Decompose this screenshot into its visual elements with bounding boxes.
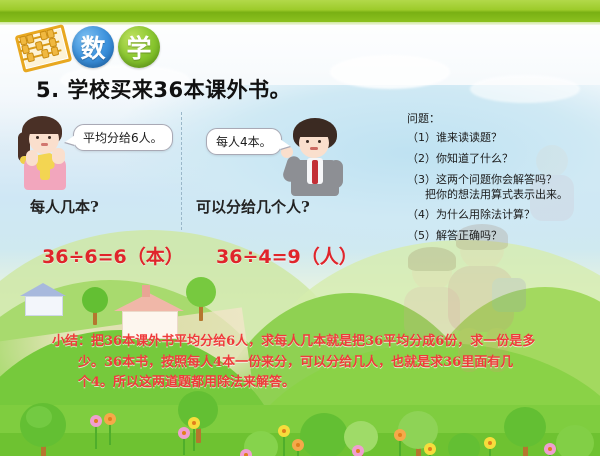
girl-bubble-text: 平均分给6人。 xyxy=(83,131,163,145)
left-equation: 36÷6=6（本） xyxy=(42,242,184,269)
bubble-tail xyxy=(65,135,75,145)
boy-speech-bubble: 每人4本。 xyxy=(206,128,282,155)
girl-speech-bubble: 平均分给6人。 xyxy=(73,124,173,151)
tree-icon xyxy=(448,433,480,456)
flower-icon xyxy=(178,427,190,455)
flower-icon xyxy=(352,445,364,456)
badge-math-icon: 数 xyxy=(72,26,114,68)
question-label: （5）解答正确吗？ xyxy=(407,229,502,242)
vertical-divider xyxy=(181,112,182,230)
question-label: （4）为什么用除法计算？ xyxy=(407,208,535,221)
tree-icon xyxy=(20,403,66,456)
question-item-3: （3）这两个问题你会解答吗？ 把你的想法用算式表示出来。 xyxy=(407,173,597,203)
cloud-icon xyxy=(470,75,580,103)
question-item-4: （4）为什么用除法计算？ xyxy=(407,208,597,223)
house-icon xyxy=(20,283,66,315)
right-question-text: 可以分给几个人? xyxy=(196,196,310,217)
question-sub-label: 把你的想法用算式表示出来。 xyxy=(425,188,597,203)
question-item-1: （1）谁来读读题？ xyxy=(407,131,597,146)
flower-icon xyxy=(104,413,116,445)
badge-study-icon: 学 xyxy=(118,26,160,68)
girl-student-figure xyxy=(18,112,74,190)
left-question-text: 每人几本? xyxy=(30,196,99,217)
question-item-2: （2）你知道了什么？ xyxy=(407,152,597,167)
summary-line-1: 小结：把36本课外书平均分给6人，求每人几本就是把36平均分成6份，求一份是多 xyxy=(52,334,535,349)
tree-icon xyxy=(186,277,216,321)
abacus-icon xyxy=(12,21,71,74)
summary-line-3: 个4。所以这两道题都用除法来解答。 xyxy=(78,373,558,394)
tree-icon xyxy=(556,425,594,456)
top-green-bar xyxy=(0,0,600,22)
tree-icon xyxy=(300,413,348,456)
right-equation: 36÷4=9（人） xyxy=(216,242,358,269)
question-item-5: （5）解答正确吗？ xyxy=(407,229,597,244)
flower-icon xyxy=(484,437,496,456)
questions-panel: 问题： （1）谁来读读题？ （2）你知道了什么？ （3）这两个问题你会解答吗？ … xyxy=(407,110,597,250)
cloud-icon xyxy=(330,55,450,89)
question-label: （3）这两个问题你会解答吗？ xyxy=(407,173,557,186)
flower-icon xyxy=(292,439,304,456)
flower-icon xyxy=(394,429,406,456)
slide-root: 数 学 5. 学校买来36本课外书。 平均分给6人。 每人几本? xyxy=(0,0,600,456)
summary-line-2: 少。36本书，按照每人4本一份来分，可以分给几人，也就是求36里面有几 xyxy=(78,353,558,374)
page-title: 5. 学校买来36本课外书。 xyxy=(36,74,291,104)
tree-icon xyxy=(504,407,546,456)
questions-heading: 问题： xyxy=(407,110,597,126)
flower-icon xyxy=(90,415,102,449)
question-label: （1）谁来读读题？ xyxy=(407,131,502,144)
flower-icon xyxy=(278,425,290,456)
flower-icon xyxy=(424,443,436,456)
flower-icon xyxy=(544,443,556,456)
bubble-tail xyxy=(280,139,290,149)
boy-bubble-text: 每人4本。 xyxy=(216,135,272,149)
tree-icon xyxy=(82,287,108,325)
summary-block: 小结：把36本课外书平均分给6人，求每人几本就是把36平均分成6份，求一份是多 … xyxy=(52,332,558,394)
logo-group: 数 学 xyxy=(16,24,166,70)
boy-student-figure xyxy=(285,116,345,196)
flower-icon xyxy=(240,449,252,456)
question-label: （2）你知道了什么？ xyxy=(407,152,513,165)
house-icon xyxy=(114,293,184,337)
